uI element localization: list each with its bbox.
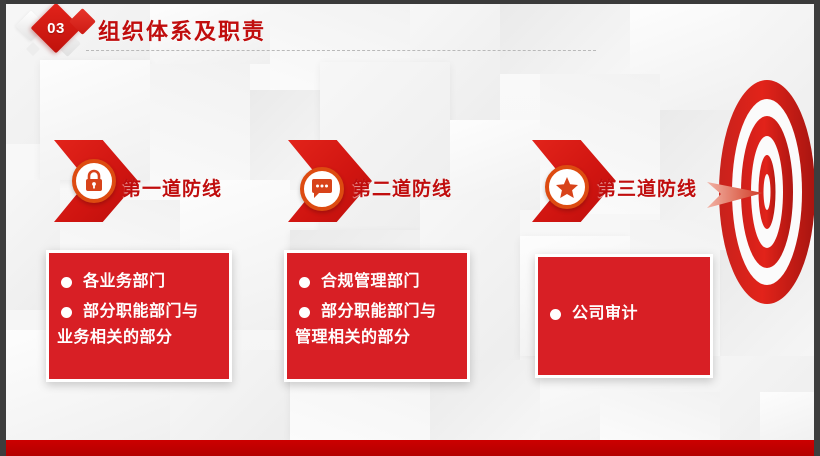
list-item-continuation: 管理相关的部分 <box>295 325 459 351</box>
bullet-icon <box>550 309 561 320</box>
slide-frame-right <box>814 0 820 456</box>
bullet-icon <box>61 277 72 288</box>
background-pattern <box>0 0 820 456</box>
slide-frame-left <box>0 0 6 456</box>
arrow-hitting-target-icon <box>705 172 769 216</box>
defense-line-1-box: 各业务部门 部分职能部门与 业务相关的部分 <box>46 250 232 382</box>
speech-bubble-icon <box>300 167 344 211</box>
list-item-continuation: 业务相关的部分 <box>57 325 221 351</box>
star-icon <box>545 165 589 209</box>
section-number-text: 03 <box>38 10 74 46</box>
defense-line-1-label: 第一道防线 <box>122 174 222 201</box>
bullet-icon <box>299 277 310 288</box>
slide-header: 03 组织体系及职责 <box>0 4 820 58</box>
slide-canvas: 03 组织体系及职责 <box>0 0 820 456</box>
list-item-text: 各业务部门 <box>83 273 166 290</box>
lock-icon <box>72 159 116 203</box>
list-item: 公司审计 <box>546 301 702 327</box>
list-item-text: 部分职能部门与 <box>321 303 437 320</box>
page-title: 组织体系及职责 <box>98 14 266 46</box>
bullet-icon <box>61 307 72 318</box>
slide-frame-top <box>0 0 820 4</box>
list-item: 部分职能部门与 业务相关的部分 <box>57 299 221 351</box>
title-divider <box>86 50 596 51</box>
bullet-icon <box>299 307 310 318</box>
defense-line-3-label: 第三道防线 <box>597 174 697 201</box>
list-item: 合规管理部门 <box>295 269 459 295</box>
defense-line-3-box: 公司审计 <box>535 254 713 378</box>
list-item-text: 部分职能部门与 <box>83 303 199 320</box>
defense-line-2-label: 第二道防线 <box>352 174 452 201</box>
list-item: 部分职能部门与 管理相关的部分 <box>295 299 459 351</box>
bottom-red-band <box>6 440 814 456</box>
defense-line-2-box: 合规管理部门 部分职能部门与 管理相关的部分 <box>284 250 470 382</box>
section-number-badge: 03 <box>16 4 102 60</box>
list-item-text: 公司审计 <box>572 305 638 322</box>
list-item-text: 合规管理部门 <box>321 273 420 290</box>
list-item: 各业务部门 <box>57 269 221 295</box>
